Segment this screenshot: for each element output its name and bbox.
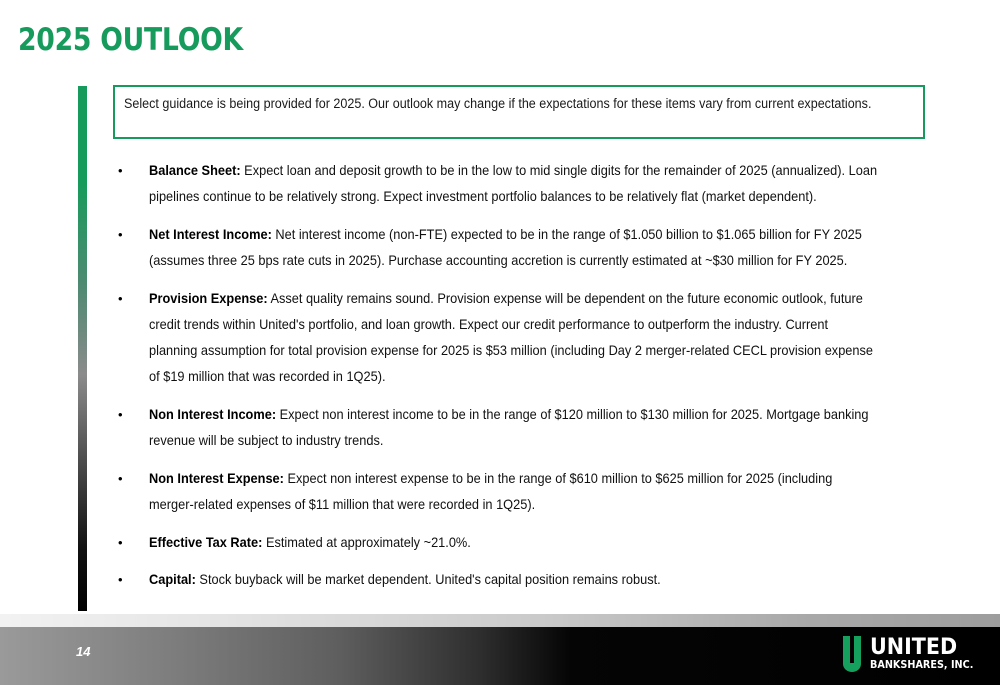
bullet-marker-icon: • [113,567,149,593]
list-item-text: Expect loan and deposit growth to be in … [149,163,877,204]
footer-gradient-strip [0,614,1000,627]
list-item: • Non Interest Expense: Expect non inter… [113,466,925,518]
list-item-text: Estimated at approximately ~21.0%. [262,535,470,550]
bullet-marker-icon: • [113,530,149,556]
list-item: • Capital: Stock buyback will be market … [113,567,925,593]
bullet-marker-icon: • [113,286,149,312]
list-item-text: Stock buyback will be market dependent. … [196,572,661,587]
list-item-body: Balance Sheet: Expect loan and deposit g… [149,158,878,210]
list-item-body: Effective Tax Rate: Estimated at approxi… [149,530,878,556]
brand-name-secondary: BANKSHARES, INC. [870,659,973,672]
list-item-lead: Net Interest Income: [149,227,272,242]
list-item-body: Non Interest Income: Expect non interest… [149,402,878,454]
list-item: • Balance Sheet: Expect loan and deposit… [113,158,925,210]
guidance-callout-text: Select guidance is being provided for 20… [124,94,910,114]
outlook-bullet-list: • Balance Sheet: Expect loan and deposit… [113,158,925,604]
bullet-marker-icon: • [113,158,149,184]
list-item-lead: Capital: [149,572,196,587]
list-item-lead: Non Interest Expense: [149,471,284,486]
bullet-marker-icon: • [113,222,149,248]
list-item: • Effective Tax Rate: Estimated at appro… [113,530,925,556]
list-item-body: Provision Expense: Asset quality remains… [149,286,878,390]
list-item-body: Net Interest Income: Net interest income… [149,222,878,274]
bullet-marker-icon: • [113,402,149,428]
list-item: • Non Interest Income: Expect non intere… [113,402,925,454]
list-item-lead: Effective Tax Rate: [149,535,262,550]
page-title: 2025 OUTLOOK [18,22,243,58]
list-item: • Net Interest Income: Net interest inco… [113,222,925,274]
left-accent-bar [78,86,87,611]
brand-logo-wordmark: UNITED BANKSHARES, INC. [870,636,982,672]
brand-logo: UNITED BANKSHARES, INC. [842,636,982,676]
list-item-lead: Non Interest Income: [149,407,276,422]
list-item-body: Capital: Stock buyback will be market de… [149,567,878,593]
guidance-callout-box: Select guidance is being provided for 20… [113,85,925,139]
list-item-body: Non Interest Expense: Expect non interes… [149,466,878,518]
brand-name-primary: UNITED [870,636,976,659]
list-item-lead: Provision Expense: [149,291,268,306]
footer-bar: 14 UNITED BANKSHARES, INC. [0,627,1000,685]
bullet-marker-icon: • [113,466,149,492]
page-number: 14 [76,644,90,659]
list-item: • Provision Expense: Asset quality remai… [113,286,925,390]
united-bankshares-mark-icon [842,636,864,674]
list-item-lead: Balance Sheet: [149,163,241,178]
